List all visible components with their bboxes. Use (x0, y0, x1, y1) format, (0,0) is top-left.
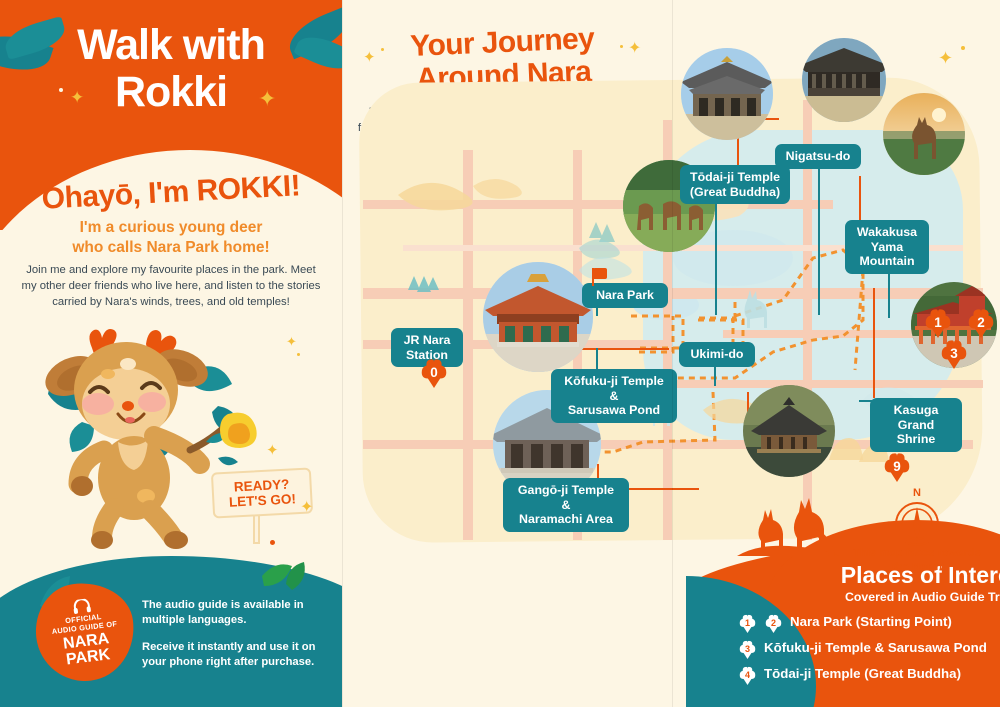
marker-number: 9 (893, 459, 901, 474)
poi-badge-3: 3 (738, 640, 757, 659)
poi-item[interactable]: 12Nara Park (Starting Point) (738, 614, 1000, 633)
poi-label: Nara Park (Starting Point) (790, 614, 952, 629)
map-marker-0[interactable]: 0 (419, 358, 449, 388)
poi-label: Tōdai-ji Temple (Great Buddha) (764, 666, 961, 681)
connector-line (859, 176, 861, 226)
map-label-gango-ji[interactable]: Gangō-ji Temple & Naramachi Area (503, 478, 629, 532)
poi-item[interactable]: 4Tōdai-ji Temple (Great Buddha) (738, 666, 1000, 685)
dot-decoration (297, 353, 300, 356)
subtitle-line2: who calls Nara Park home! (20, 238, 322, 258)
photo-wakakusa-deer (883, 93, 965, 175)
headphones-icon (72, 598, 92, 614)
fold-line-left (342, 0, 343, 707)
poi-badge-number: 3 (745, 644, 750, 654)
map-label-nigatsu-do[interactable]: Nigatsu-do (775, 144, 861, 169)
marker-number: 2 (977, 315, 985, 330)
map-label-kofuku-ji[interactable]: Kōfuku-ji Temple & Sarusawa Pond (551, 369, 677, 423)
rokki-mascot-illustration (42, 318, 272, 558)
audio-note-1: The audio guide is available in multiple… (142, 598, 332, 627)
star-icon: ✦ (938, 48, 953, 69)
map-marker-2[interactable]: 2 (966, 308, 996, 338)
compass-north-label: N (894, 487, 940, 499)
page-title: Walk with Rokki (0, 22, 342, 116)
map-label-kasuga[interactable]: Kasuga Grand Shrine (870, 398, 962, 452)
sign-line2: LET'S GO! (229, 491, 297, 509)
poi-badge-4: 4 (738, 666, 757, 685)
subtitle-line1: I'm a curious young deer (20, 218, 322, 238)
map-label-ukimi-do[interactable]: Ukimi-do (679, 342, 755, 367)
deer-silhouette-decoration (733, 498, 863, 558)
connector-line (873, 288, 875, 398)
map-marker-1[interactable]: 1 (923, 308, 953, 338)
dot-decoration (270, 540, 275, 545)
star-icon: ✦ (70, 88, 84, 108)
map-marker-3[interactable]: 3 (939, 339, 969, 369)
left-panel: Walk with Rokki ✦ ✦ ✦ ✦ ✦ Ohayō, I'm ROK… (0, 0, 342, 707)
star-icon: ✦ (258, 86, 276, 112)
star-icon: ✦ (628, 38, 641, 58)
poi-badge-2: 2 (764, 614, 783, 633)
star-icon: ✦ (300, 497, 313, 517)
poi-label: Kōfuku-ji Temple & Sarusawa Pond (764, 640, 987, 655)
photo-ukimi-do (743, 385, 835, 477)
map-label-nara-park[interactable]: Nara Park (582, 283, 668, 308)
intro-paragraph: Join me and explore my favourite places … (18, 262, 324, 310)
sign-post (253, 512, 260, 544)
compass-caption: This map faces towards the North (848, 546, 986, 574)
nara-park-flag-icon (593, 268, 607, 279)
places-of-interest-subtitle: Covered in Audio Guide Tracks (686, 590, 1000, 604)
marker-number: 3 (950, 346, 958, 361)
connector-line (818, 155, 820, 315)
map-marker-9[interactable]: 9 (882, 452, 912, 482)
compass-icon (894, 501, 940, 547)
marker-number: 1 (934, 315, 942, 330)
poi-badge-1: 1 (738, 614, 757, 633)
audio-note-2: Receive it instantly and use it on your … (142, 640, 332, 669)
audio-guide-notes: The audio guide is available in multiple… (142, 598, 332, 669)
poi-badge-number: 4 (745, 670, 750, 680)
page-title-line1: Walk with (0, 22, 342, 69)
poi-badge-number: 2 (771, 618, 776, 628)
marker-number: 0 (430, 365, 438, 380)
map-label-wakakusa[interactable]: Wakakusa Yama Mountain (845, 220, 929, 274)
poi-item[interactable]: 3Kōfuku-ji Temple & Sarusawa Pond (738, 640, 1000, 659)
brochure-page: Walk with Rokki ✦ ✦ ✦ ✦ ✦ Ohayō, I'm ROK… (0, 0, 1000, 707)
ready-lets-go-sign: READY? LET'S GO! (211, 467, 313, 518)
photo-todai-ji (681, 48, 773, 140)
star-icon: ✦ (363, 48, 376, 66)
subtitle: I'm a curious young deer who calls Nara … (20, 218, 322, 258)
map-label-todai-ji[interactable]: Tōdai-ji Temple (Great Buddha) (680, 165, 790, 204)
connector-line (577, 348, 669, 350)
photo-kofuku-ji (483, 262, 593, 372)
fold-line-right (672, 0, 673, 707)
photo-nigatsu-do (802, 38, 886, 122)
page-title-line2: Rokki (0, 69, 342, 116)
poi-column-1: 12Nara Park (Starting Point)3Kōfuku-ji T… (738, 614, 1000, 692)
badge-line4: PARK (65, 647, 111, 668)
star-icon: ✦ (286, 334, 297, 350)
star-icon: ✦ (266, 441, 279, 459)
poi-badge-number: 1 (745, 618, 750, 628)
